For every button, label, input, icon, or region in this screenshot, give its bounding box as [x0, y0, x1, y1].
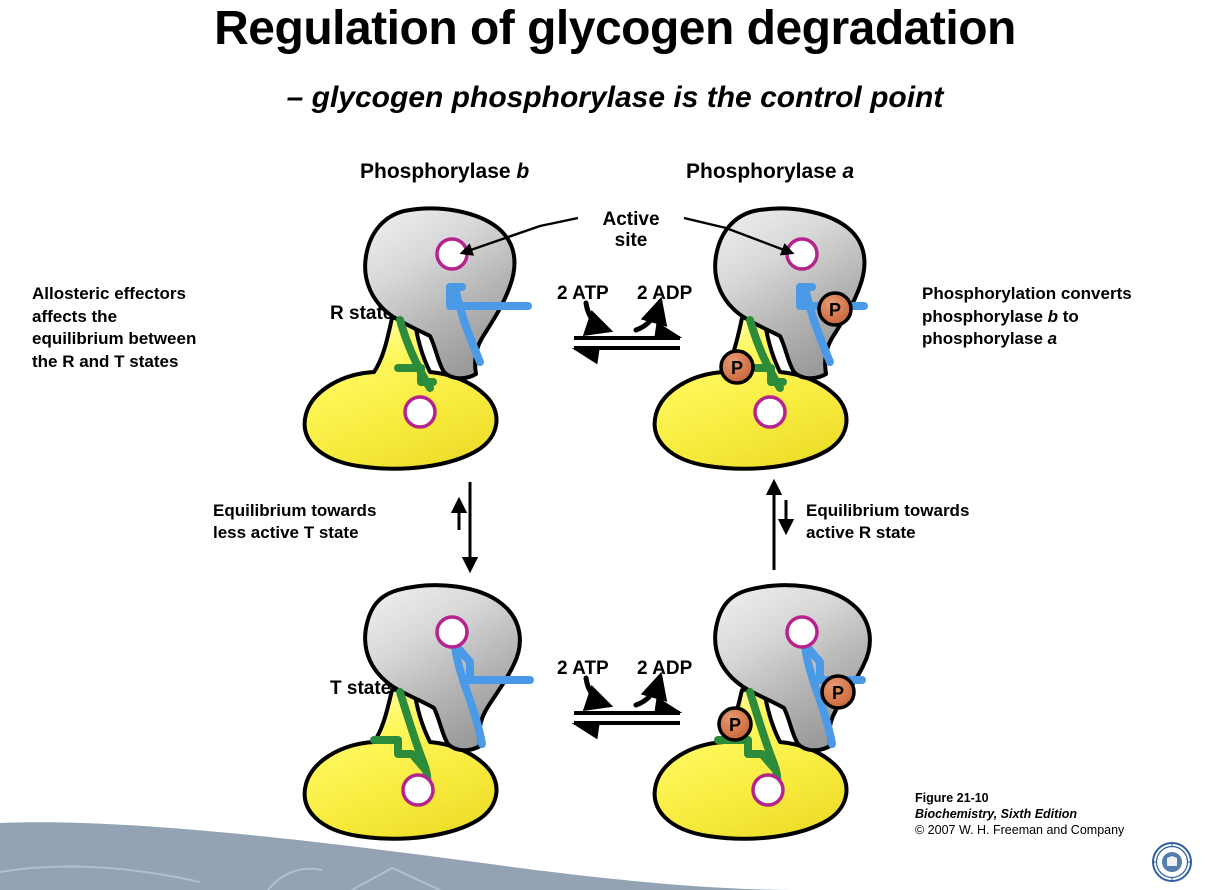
leader-line-right — [684, 218, 792, 253]
green-tail-bottom-left-branch — [374, 740, 424, 768]
blue-tail-top-left-branch — [456, 292, 480, 362]
active-site-yellow-top-left — [405, 397, 435, 427]
r-state-label: R state — [330, 303, 393, 325]
atp-curve-top — [586, 303, 608, 330]
phosphate-badge-gray-top-right: P — [819, 293, 851, 325]
active-site-gray-top-right — [787, 239, 817, 269]
equilibrium-note-left: Equilibrium towards less active T state — [213, 500, 453, 544]
protein-phosphorylase-a-r-state: P P — [655, 208, 865, 468]
column-header-b-italic: b — [516, 160, 529, 183]
atp-curve-bottom — [586, 678, 608, 705]
footer-swoosh — [0, 822, 800, 890]
annotation-right-line2-pre: phosphorylase — [922, 307, 1048, 326]
diagram-svg: P P — [0, 0, 1230, 890]
phosphate-badge-gray-bottom-right-text: P — [832, 683, 844, 703]
green-tail-bottom-left — [400, 692, 427, 790]
column-header-phosphorylase-b: Phosphorylase b — [360, 160, 529, 184]
phosphate-badge-yellow-bottom-right-text: P — [729, 715, 741, 735]
phosphate-badge-gray-top-right-text: P — [829, 300, 841, 320]
column-header-b-text: Phosphorylase — [360, 160, 516, 183]
gray-subunit-top-right — [715, 208, 864, 378]
vertical-equilibrium-right — [774, 482, 786, 570]
t-state-label: T state — [330, 678, 391, 700]
blue-tail-bottom-right-branch — [808, 648, 862, 680]
annotation-right-line3-pre: phosphorylase — [922, 329, 1048, 348]
figure-credit: Figure 21-10 Biochemistry, Sixth Edition… — [915, 790, 1124, 838]
active-site-yellow-top-right — [755, 397, 785, 427]
annotation-right-line2-italic: b — [1048, 307, 1058, 326]
protein-phosphorylase-a-t-state: P P — [655, 585, 870, 839]
slide-canvas: Regulation of glycogen degradation – gly… — [0, 0, 1230, 890]
blue-tail-top-right — [800, 287, 864, 306]
phosphate-badge-yellow-bottom-right: P — [719, 708, 751, 740]
atp-label-bottom: 2 ATP — [557, 658, 609, 680]
annotation-phosphorylation-converts: Phosphorylation convertsphosphorylase b … — [922, 283, 1207, 351]
active-site-yellow-bottom-right — [753, 775, 783, 805]
annotation-allosteric-effectors: Allosteric effectors affects the equilib… — [32, 283, 282, 373]
phosphate-badge-gray-bottom-right: P — [822, 676, 854, 708]
column-header-a-text: Phosphorylase — [686, 160, 842, 183]
page-title: Regulation of glycogen degradation — [0, 4, 1230, 54]
active-site-yellow-bottom-left — [403, 775, 433, 805]
annotation-right-line1: Phosphorylation converts — [922, 284, 1132, 303]
reaction-arrow-bottom — [574, 677, 680, 723]
yellow-subunit-top-left — [305, 316, 497, 469]
blue-tail-bottom-right — [804, 638, 832, 744]
active-site-gray-bottom-left — [437, 617, 467, 647]
footer-swoosh-line-3 — [352, 868, 440, 890]
active-site-gray-bottom-right — [787, 617, 817, 647]
adp-curve-bottom — [636, 677, 660, 705]
active-site-label: Active site — [583, 209, 679, 252]
green-tail-top-left-branch — [398, 368, 433, 382]
blue-tail-top-right-branch — [806, 292, 830, 362]
figure-number: Figure 21-10 — [915, 790, 1124, 806]
adp-label-top: 2 ADP — [637, 283, 692, 305]
green-tail-bottom-right-branch — [718, 740, 774, 768]
page-subtitle: – glycogen phosphorylase is the control … — [0, 82, 1230, 114]
column-header-a-italic: a — [842, 160, 854, 183]
column-header-phosphorylase-a: Phosphorylase a — [686, 160, 854, 184]
phosphate-badge-yellow-top-right: P — [721, 351, 753, 383]
yellow-subunit-bottom-left — [305, 688, 497, 839]
blue-tail-bottom-left-branch — [458, 648, 530, 680]
protein-phosphorylase-b-r-state — [305, 208, 528, 468]
gray-subunit-bottom-left — [365, 585, 520, 750]
leader-line-left — [462, 218, 578, 253]
gray-subunit-top-left — [365, 208, 514, 378]
adp-curve-top — [636, 302, 660, 330]
figure-book-title: Biochemistry, Sixth Edition — [915, 806, 1124, 822]
equilibrium-note-right: Equilibrium towards active R state — [806, 500, 1046, 544]
phosphate-badge-yellow-top-right-text: P — [731, 358, 743, 378]
footer-swoosh-line-1 — [0, 867, 200, 882]
annotation-right-line2-post: to — [1058, 307, 1079, 326]
blue-tail-bottom-left — [454, 638, 482, 744]
green-tail-top-right — [750, 320, 780, 388]
blue-tail-top-left — [450, 287, 528, 306]
protein-phosphorylase-b-t-state — [305, 585, 530, 839]
green-tail-top-left — [400, 320, 430, 388]
atp-label-top: 2 ATP — [557, 283, 609, 305]
active-site-gray-top-left — [437, 239, 467, 269]
green-tail-top-right-branch — [736, 368, 783, 382]
vertical-equilibrium-left — [459, 482, 470, 570]
footer-swoosh-line-2 — [268, 869, 322, 890]
reaction-arrow-top — [574, 302, 680, 348]
footer-decoration — [0, 822, 800, 890]
university-seal-logo — [1153, 843, 1191, 881]
annotation-right-line3-italic: a — [1048, 329, 1057, 348]
yellow-subunit-bottom-right — [655, 688, 847, 839]
adp-label-bottom: 2 ADP — [637, 658, 692, 680]
gray-subunit-bottom-right — [715, 585, 870, 750]
green-tail-bottom-right — [750, 692, 777, 790]
yellow-subunit-top-right — [655, 316, 847, 469]
figure-copyright: © 2007 W. H. Freeman and Company — [915, 822, 1124, 838]
